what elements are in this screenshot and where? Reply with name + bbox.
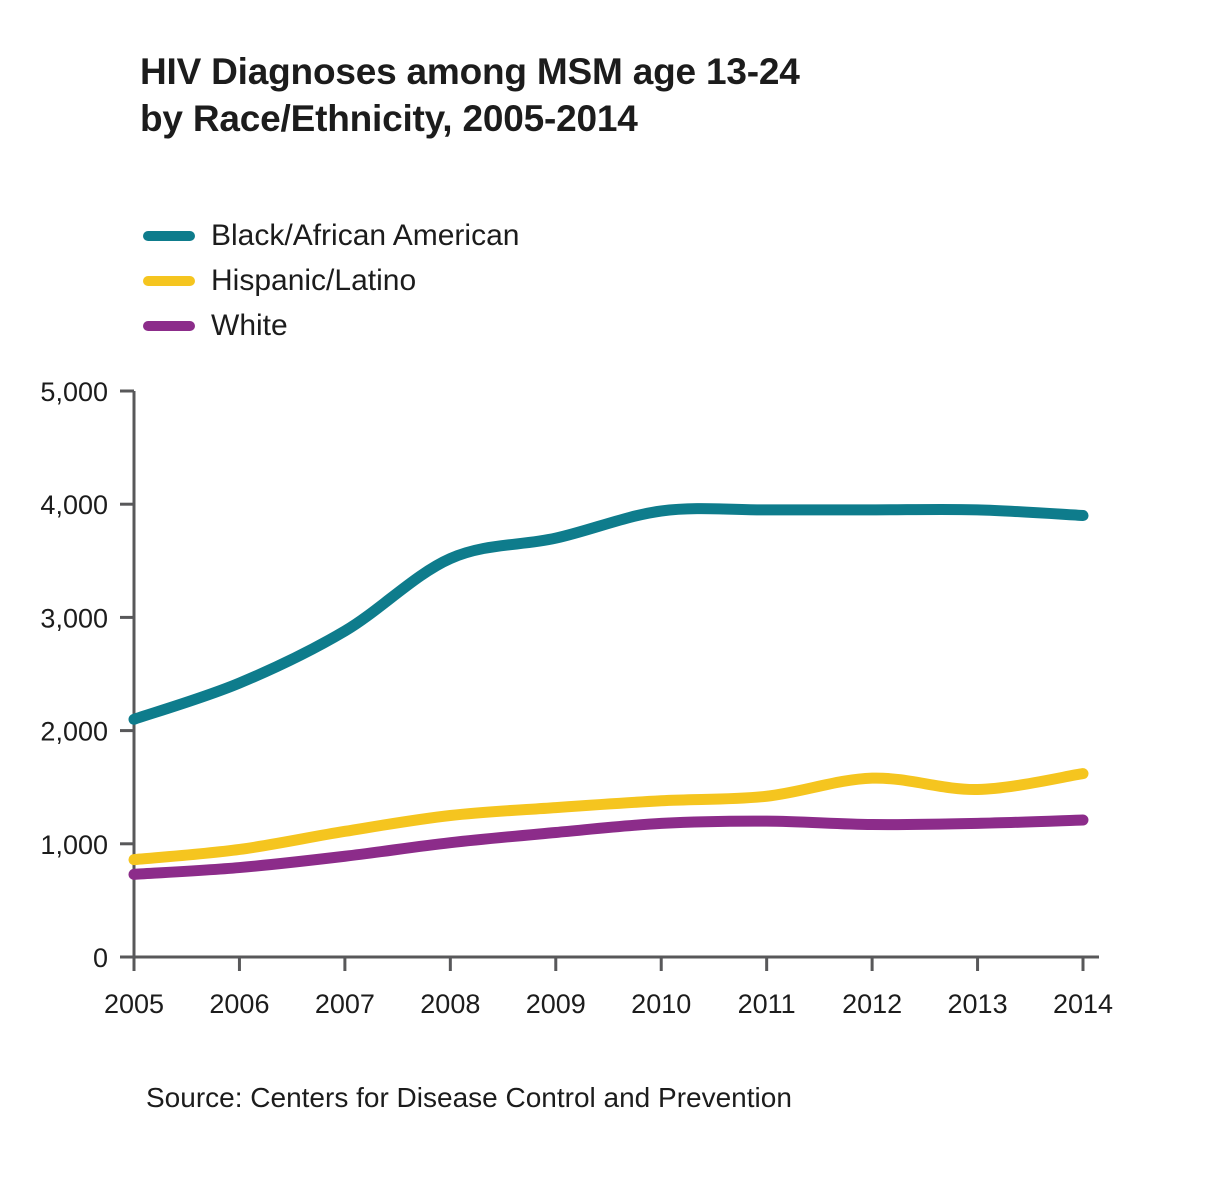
chart-series [134,509,1083,875]
x-axis-tick-label: 2005 [104,989,164,1019]
series-line [134,509,1083,720]
source-note: Source: Centers for Disease Control and … [146,1082,792,1114]
x-axis-ticks: 2005200620072008200920102011201220132014 [104,957,1113,1019]
x-axis-tick-label: 2009 [526,989,586,1019]
x-axis-tick-label: 2008 [420,989,480,1019]
chart-canvas: 01,0002,0003,0004,0005,000 2005200620072… [0,0,1210,1040]
series-line [134,774,1083,860]
chart-page: HIV Diagnoses among MSM age 13-24 by Rac… [0,0,1210,1200]
line-chart: 01,0002,0003,0004,0005,000 2005200620072… [0,0,1210,1040]
x-axis-tick-label: 2014 [1053,989,1113,1019]
x-axis-tick-label: 2010 [631,989,691,1019]
y-axis-tick-label: 2,000 [40,717,108,747]
x-axis-tick-label: 2011 [738,989,796,1019]
x-axis-tick-label: 2013 [948,989,1008,1019]
x-axis-tick-label: 2006 [209,989,269,1019]
y-axis-ticks: 01,0002,0003,0004,0005,000 [40,377,134,973]
y-axis-tick-label: 4,000 [40,490,108,520]
y-axis-tick-label: 5,000 [40,377,108,407]
y-axis-tick-label: 0 [93,943,108,973]
y-axis-tick-label: 1,000 [40,830,108,860]
chart-axes [134,391,1099,957]
x-axis-tick-label: 2007 [315,989,375,1019]
x-axis-tick-label: 2012 [842,989,902,1019]
y-axis-tick-label: 3,000 [40,603,108,633]
